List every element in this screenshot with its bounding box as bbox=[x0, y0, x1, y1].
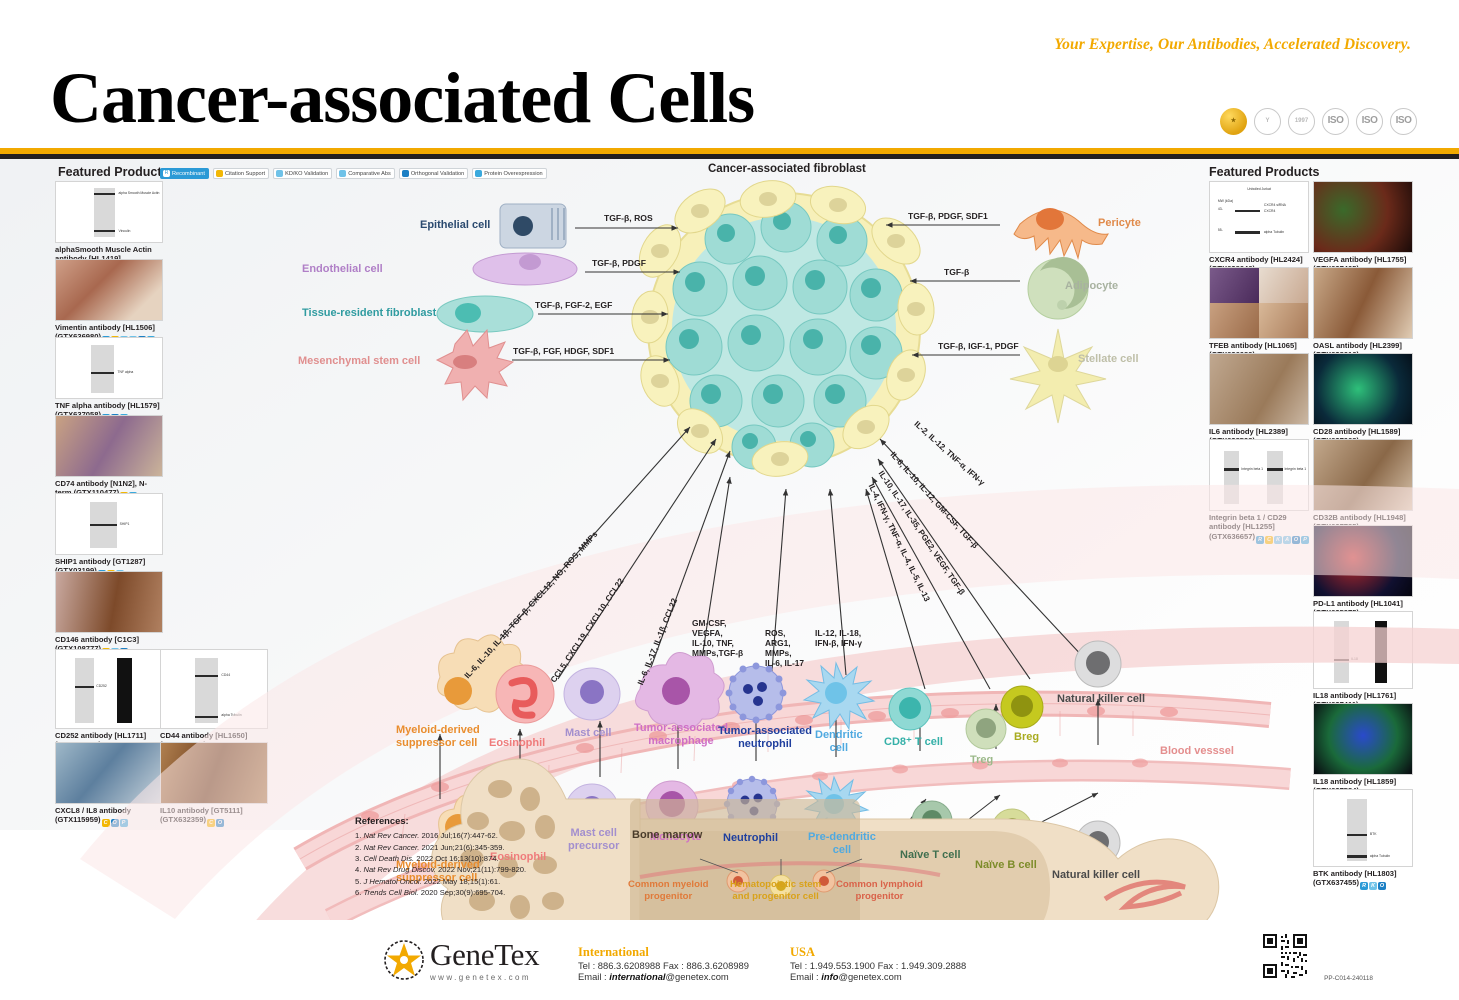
product-thumbnail-ihc bbox=[1209, 353, 1309, 425]
product-card[interactable]: IL10 antibody [GT5111] (GTX632359)CO bbox=[160, 742, 268, 827]
endothelial-cell-glyph bbox=[473, 253, 577, 285]
genetex-wordmark: GeneTex bbox=[430, 937, 539, 973]
usa-heading: USA bbox=[790, 945, 966, 960]
product-catalog: (GTX637455) bbox=[1313, 878, 1359, 887]
cytokine-label-stellate: TGF-β, IGF-1, PDGF bbox=[938, 341, 1019, 351]
pericyte-glyph bbox=[1014, 208, 1108, 258]
cytokine-label-fibroblast: TGF-β, FGF-2, EGF bbox=[535, 300, 612, 310]
usa-phone: Tel : 1.949.553.1900 Fax : 1.949.309.288… bbox=[790, 960, 966, 971]
product-card[interactable]: CD28 antibody [HL1589] (GTX637068)R bbox=[1313, 353, 1413, 448]
page-title: Cancer-associated Cells bbox=[50, 62, 754, 134]
label-pericyte: Pericyte bbox=[1098, 217, 1141, 229]
product-name: VEGFA antibody [HL1755] bbox=[1313, 255, 1406, 264]
product-name: BTK antibody [HL1803] bbox=[1313, 869, 1397, 878]
reference-item: 6. Trends Cell Biol. 2020 Sep;30(9):695-… bbox=[355, 887, 526, 898]
label-tumor-associated-macrophage: Tumor-associated macrophage bbox=[634, 722, 728, 747]
epithelial-cell-glyph bbox=[500, 204, 566, 248]
cancer-associated-fibroblast-sphere bbox=[629, 176, 935, 479]
product-badges: RCKAOP bbox=[1256, 536, 1309, 544]
legend-label: Comparative Abs bbox=[348, 171, 391, 177]
product-name: IL10 antibody [GT5111] bbox=[160, 806, 243, 815]
cytokine-vertical-1: GM-CSF, VEGFA, IL-10, TNF, MMPs,TGF-β bbox=[692, 619, 743, 659]
label-naive-b-cell: Naïve B cell bbox=[975, 859, 1037, 871]
product-thumbnail-western-blot: IL18 bbox=[1313, 611, 1413, 689]
product-card[interactable]: IL18 antibody [HL1859] (GTX637584)RO bbox=[1313, 703, 1413, 798]
product-card[interactable]: CD252 CD252 antibody [HL1711] (GTX637310… bbox=[55, 649, 163, 752]
product-name: TNF alpha antibody [HL1579] bbox=[55, 401, 160, 410]
cytokine-diagonal-left-3: IL-6, IL-17, IL-1β, CCL22 bbox=[636, 597, 680, 687]
product-card[interactable]: CD74 antibody [N1N2], N-term (GTX110477)… bbox=[55, 415, 163, 500]
product-thumbnail-ihc bbox=[55, 571, 163, 633]
product-card[interactable]: IL6 antibody [HL2389] (GTX638598)RAO bbox=[1209, 353, 1309, 448]
legend-orthogonal-validation: Orthogonal Validation bbox=[399, 168, 468, 179]
product-thumbnail-western-blot: Unboiled Jurkat MW (kDa)43-55- CXCR4 siR… bbox=[1209, 181, 1309, 253]
product-card[interactable]: CXCL8 / IL8 antibody (GTX115959)COP bbox=[55, 742, 163, 827]
product-name: Vimentin antibody [HL1506] bbox=[55, 323, 155, 332]
product-caption: IL10 antibody [GT5111] (GTX632359)CO bbox=[160, 806, 268, 827]
cytokine-diagonal-right-1: IL-2, IL-12, TNF-α, IFN-γ bbox=[912, 419, 986, 487]
international-heading: International bbox=[578, 945, 749, 960]
legend-protein-overexpression: Protein Overexpression bbox=[472, 168, 546, 179]
international-email[interactable]: Email : international@genetex.com bbox=[578, 971, 749, 982]
poster-body: Featured Products RRecombinant Citation … bbox=[0, 159, 1459, 1000]
legend-label: Recombinant bbox=[172, 171, 205, 177]
pp-code: PP-C014-240118 bbox=[1324, 975, 1373, 982]
product-name: CD44 antibody [HL1650] bbox=[160, 731, 247, 740]
label-epithelial-cell: Epithelial cell bbox=[420, 219, 490, 231]
label-mdsc-upper: Myeloid-derived suppressor cell bbox=[396, 724, 480, 749]
legend-label: Citation Support bbox=[225, 171, 265, 177]
product-thumbnail-ihc bbox=[1313, 439, 1413, 511]
references-heading: References: bbox=[355, 814, 526, 828]
label-common-myeloid-progenitor: Common myeloid progenitor bbox=[628, 879, 709, 902]
product-card[interactable]: CD146 antibody [C1C3] (GTX108777)CKO bbox=[55, 571, 163, 656]
product-card[interactable]: VEGFA antibody [HL1755] (GTX637405)ROP bbox=[1313, 181, 1413, 276]
cytokine-vertical-3: IL-12, IL-18, IFN-β, IFN-γ bbox=[815, 629, 862, 649]
product-thumbnail-western-blot: BTKalpha Tubulin bbox=[1313, 789, 1413, 867]
reference-item: 2. Nat Rev Cancer. 2021 Jun;21(6):345-35… bbox=[355, 842, 526, 853]
genetex-star-icon bbox=[383, 939, 425, 981]
legend-label: Orthogonal Validation bbox=[411, 171, 464, 177]
product-name: TFEB antibody [HL1065] bbox=[1209, 341, 1297, 350]
label-common-lymphoid-progenitor: Common lymphoid progenitor bbox=[836, 879, 923, 902]
product-card[interactable]: Integrin beta 1Integrin beta 1 Integrin … bbox=[1209, 439, 1309, 544]
cytokine-vertical-2: ROS, ARG1, MMPs, IL-6, IL-17 bbox=[765, 629, 804, 669]
label-natural-killer-cell-lower: Natural killer cell bbox=[1052, 869, 1140, 881]
product-thumbnail-ihc bbox=[55, 742, 163, 804]
legend-label: Protein Overexpression bbox=[484, 171, 542, 177]
product-thumbnail-western-blot: CD44alpha Tubulin bbox=[160, 649, 268, 729]
label-blood-vessel: Blood vesssel bbox=[1160, 745, 1234, 757]
product-badges: COP bbox=[102, 819, 128, 827]
product-thumbnail-western-blot: SHIP1 bbox=[55, 493, 163, 555]
featured-products-left-heading: Featured Products bbox=[58, 165, 168, 179]
iso-9001-icon: ISO bbox=[1356, 108, 1383, 135]
award-seal-icon: ★ bbox=[1220, 108, 1247, 135]
label-tumor-associated-neutrophil: Tumor-associated neutrophil bbox=[718, 725, 812, 750]
product-name: CXCR4 antibody [HL2424] bbox=[1209, 255, 1303, 264]
product-name: IL18 antibody [HL1761] bbox=[1313, 691, 1396, 700]
product-thumbnail-if bbox=[1313, 181, 1413, 253]
label-bone-marrow: Bone marrow bbox=[632, 829, 702, 841]
legend-label: KD/KO Validation bbox=[285, 171, 328, 177]
cytokine-label-adipocyte: TGF-β bbox=[944, 267, 969, 277]
product-catalog: (GTX115959) bbox=[55, 815, 101, 824]
cytokine-label-endothelial: TGF-β, PDGF bbox=[592, 258, 646, 268]
label-tissue-resident-fibroblast: Tissue-resident fibroblast bbox=[302, 307, 436, 319]
poster-header: Your Expertise, Our Antibodies, Accelera… bbox=[0, 0, 1459, 150]
poster-footer: GeneTex www.genetex.com International Te… bbox=[0, 920, 1459, 1000]
label-natural-killer-cell-upper: Natural killer cell bbox=[1057, 693, 1145, 705]
cytokine-diagonal-left-1: IL-6, IL-10, IL-1β, TGF-β, CXCL12, NO, R… bbox=[463, 530, 600, 681]
reference-item: 5. J Hematol Oncol. 2022 May 18;15(1):61… bbox=[355, 876, 526, 887]
product-thumbnail-if bbox=[1313, 353, 1413, 425]
mesenchymal-stem-cell-glyph bbox=[437, 330, 513, 400]
product-thumbnail-if bbox=[1313, 703, 1413, 775]
reference-item: 4. Nat Rev Drug Discov. 2022 Nov;21(11):… bbox=[355, 864, 526, 875]
cytokine-label-msc: TGF-β, FGF, HDGF, SDF1 bbox=[513, 346, 614, 356]
product-badges: CO bbox=[207, 819, 224, 827]
legend-recombinant: RRecombinant bbox=[160, 168, 209, 179]
product-caption: Integrin beta 1 / CD29 antibody [HL1255]… bbox=[1209, 513, 1309, 544]
legend-citation-support: Citation Support bbox=[213, 168, 269, 179]
since-1997-icon: 1997 bbox=[1288, 108, 1315, 135]
antibody-seal-icon: Y bbox=[1254, 108, 1281, 135]
label-mast-cell: Mast cell bbox=[565, 727, 611, 739]
product-name: CD28 antibody [HL1589] bbox=[1313, 427, 1400, 436]
product-card[interactable]: PD-L1 antibody [HL1041] (GTX635975)RCKAO… bbox=[1313, 525, 1413, 620]
tagline: Your Expertise, Our Antibodies, Accelera… bbox=[1054, 36, 1411, 54]
product-badges: RKO bbox=[1360, 882, 1386, 890]
label-endothelial-cell: Endothelial cell bbox=[302, 263, 383, 275]
fibroblast-cell-glyph bbox=[437, 296, 533, 332]
label-mesenchymal-stem-cell: Mesenchymal stem cell bbox=[298, 355, 420, 367]
product-name: CXCL8 / IL8 antibody bbox=[55, 806, 131, 815]
iso-13485-icon: ISO bbox=[1322, 108, 1349, 135]
label-cd8-t-cell: CD8⁺ T cell bbox=[884, 735, 943, 748]
product-card[interactable]: Unboiled Jurkat MW (kDa)43-55- CXCR4 siR… bbox=[1209, 181, 1309, 276]
label-hematopoietic-stem-cell: Hematopoietic stem and progenitor cell bbox=[730, 879, 821, 902]
product-card[interactable]: Vimentin antibody [HL1506] (GTX636980)RC… bbox=[55, 259, 163, 344]
label-pre-dendritic-cell: Pre-dendritic cell bbox=[808, 831, 876, 856]
product-thumbnail-western-blot: CD252 bbox=[55, 649, 163, 729]
label-naive-t-cell: Naïve T cell bbox=[900, 849, 961, 861]
label-mast-cell-precursor: Mast cell precursor bbox=[568, 827, 619, 852]
product-thumbnail-if bbox=[1313, 525, 1413, 597]
label-breg: Breg bbox=[1014, 731, 1039, 743]
product-name: IL18 antibody [HL1859] bbox=[1313, 777, 1396, 786]
iso-14001-icon: ISO bbox=[1390, 108, 1417, 135]
genetex-url[interactable]: www.genetex.com bbox=[430, 973, 539, 982]
contact-usa: USA Tel : 1.949.553.1900 Fax : 1.949.309… bbox=[790, 945, 966, 982]
diagram-title: Cancer-associated fibroblast bbox=[708, 163, 866, 175]
product-thumbnail-western-blot: TNF alpha bbox=[55, 337, 163, 399]
label-stellate-cell: Stellate cell bbox=[1078, 353, 1139, 365]
cytokine-label-epithelial: TGF-β, ROS bbox=[604, 213, 653, 223]
product-card[interactable]: CD44alpha Tubulin CD44 antibody [HL1650]… bbox=[160, 649, 268, 752]
featured-products-right-heading: Featured Products bbox=[1209, 165, 1319, 179]
contact-international: International Tel : 886.3.6208988 Fax : … bbox=[578, 945, 749, 982]
product-caption: BTK antibody [HL1803] (GTX637455)RKO bbox=[1313, 869, 1413, 890]
product-thumbnail-western-blot: Integrin beta 1Integrin beta 1 bbox=[1209, 439, 1309, 511]
international-phone: Tel : 886.3.6208988 Fax : 886.3.6208989 bbox=[578, 960, 749, 971]
label-eosinophil-upper: Eosinophil bbox=[489, 737, 545, 749]
product-card[interactable]: OASL antibody [HL2399] (GTX638616)ROP bbox=[1313, 267, 1413, 362]
product-card[interactable]: CD32B antibody [HL1948] (GTX637785)RO bbox=[1313, 439, 1413, 534]
label-treg: Treg bbox=[970, 754, 993, 766]
cytokine-label-pericyte: TGF-β, PDGF, SDF1 bbox=[908, 211, 988, 221]
product-card[interactable]: IL18 IL18 antibody [HL1761] (GTX637411)R… bbox=[1313, 611, 1413, 712]
product-thumbnail-ihc bbox=[55, 415, 163, 477]
product-name: CD32B antibody [HL1948] bbox=[1313, 513, 1406, 522]
product-thumbnail-ihc-quad bbox=[1209, 267, 1309, 339]
certification-badges: ★ Y 1997 ISO ISO ISO bbox=[1220, 108, 1417, 135]
product-name: PD-L1 antibody [HL1041] bbox=[1313, 599, 1403, 608]
legend-kdko-validation: KD/KO Validation bbox=[273, 168, 332, 179]
product-name: CD146 antibody [C1C3] bbox=[55, 635, 139, 644]
qr-code-icon[interactable] bbox=[1263, 934, 1307, 978]
label-neutrophil: Neutrophil bbox=[723, 832, 778, 844]
product-card[interactable]: TFEB antibody [HL1065] (GTX636089)RAO bbox=[1209, 267, 1309, 362]
references-block: References: 1. Nat Rev Cancer. 2016 Jul;… bbox=[355, 814, 526, 898]
cytokine-diagonal-left-2: CCL5, CXCL19, CXCL10, CCL22 bbox=[549, 577, 626, 685]
legend-comparative-abs: Comparative Abs bbox=[336, 168, 395, 179]
usa-email[interactable]: Email : info@genetex.com bbox=[790, 971, 966, 982]
genetex-logo[interactable]: GeneTex www.genetex.com bbox=[383, 937, 539, 982]
product-thumbnail-ihc bbox=[55, 259, 163, 321]
product-catalog: (GTX632359) bbox=[160, 815, 206, 824]
product-card[interactable]: BTKalpha Tubulin BTK antibody [HL1803] (… bbox=[1313, 789, 1413, 890]
label-adipocyte: Adipocyte bbox=[1065, 280, 1118, 292]
product-thumbnail-western-blot: alpha Smooth Muscle ActinVinculin bbox=[55, 181, 163, 243]
reference-item: 1. Nat Rev Cancer. 2016 Jul;16(7):447-62… bbox=[355, 830, 526, 841]
product-name: OASL antibody [HL2399] bbox=[1313, 341, 1402, 350]
product-name: SHIP1 antibody [GT1287] bbox=[55, 557, 145, 566]
product-name: CD252 antibody [HL1711] bbox=[55, 731, 146, 740]
product-thumbnail-ihc bbox=[1313, 267, 1413, 339]
product-thumbnail-ihc bbox=[160, 742, 268, 804]
stellate-cell-glyph bbox=[1010, 329, 1106, 423]
validation-legend: RRecombinant Citation Support KD/KO Vali… bbox=[160, 168, 547, 179]
reference-item: 3. Cell Death Dis. 2022 Oct 16;13(10):87… bbox=[355, 853, 526, 864]
product-card[interactable]: TNF alpha TNF alpha antibody [HL1579] (G… bbox=[55, 337, 163, 422]
product-name: IL6 antibody [HL2389] bbox=[1209, 427, 1288, 436]
product-caption: CXCL8 / IL8 antibody (GTX115959)COP bbox=[55, 806, 163, 827]
product-card[interactable]: SHIP1 SHIP1 antibody [GT1287] (GTX03199)… bbox=[55, 493, 163, 578]
label-dendritic-cell: Dendritic cell bbox=[815, 729, 863, 754]
